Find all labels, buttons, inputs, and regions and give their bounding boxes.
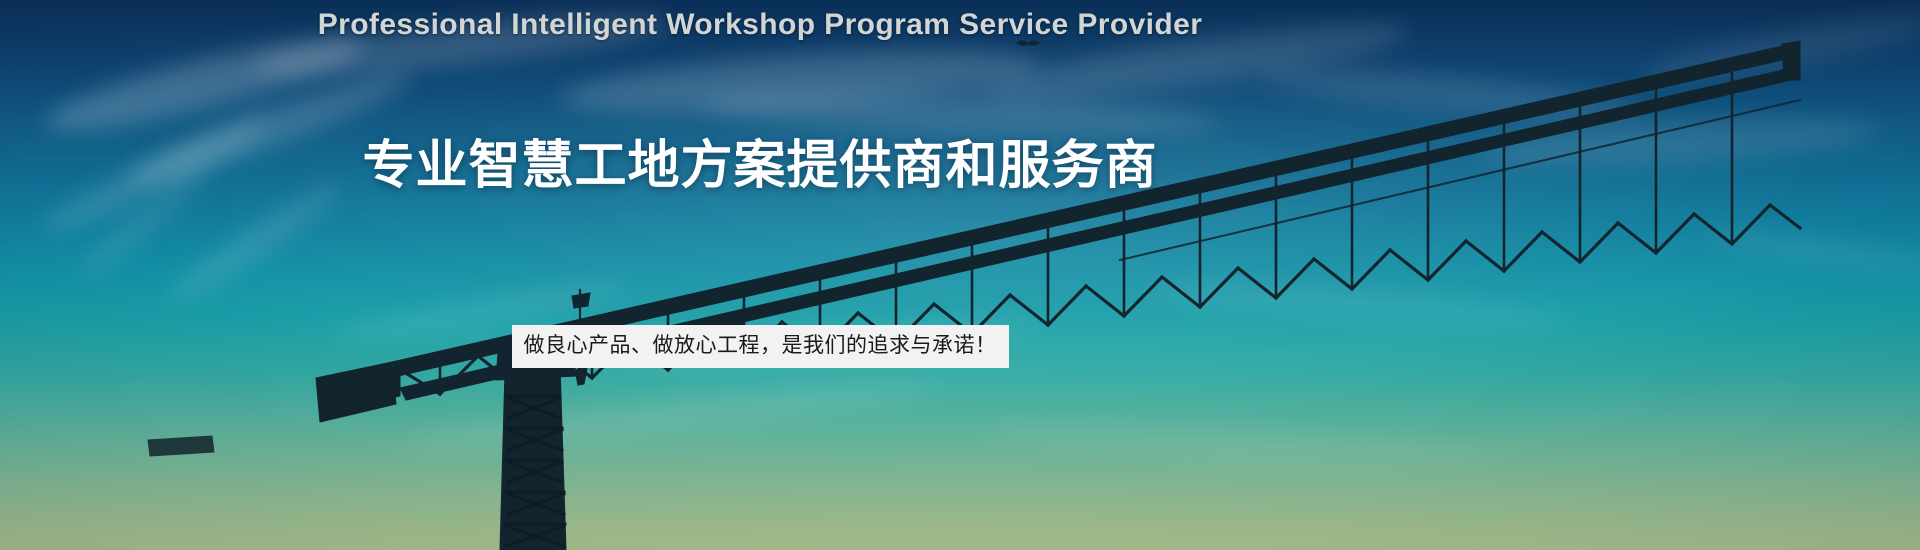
banner-subtitle-wrapper: 做良心产品、做放心工程，是我们的追求与承诺！ bbox=[0, 325, 1920, 368]
banner-text-layer: Professional Intelligent Workshop Progra… bbox=[0, 0, 1920, 550]
banner-chinese-title: 专业智慧工地方案提供商和服务商 bbox=[0, 123, 1920, 198]
banner-subtitle: 做良心产品、做放心工程，是我们的追求与承诺！ bbox=[512, 325, 1009, 368]
banner-english-title: Professional Intelligent Workshop Progra… bbox=[0, 8, 1920, 42]
hero-banner: Professional Intelligent Workshop Progra… bbox=[0, 0, 1920, 550]
